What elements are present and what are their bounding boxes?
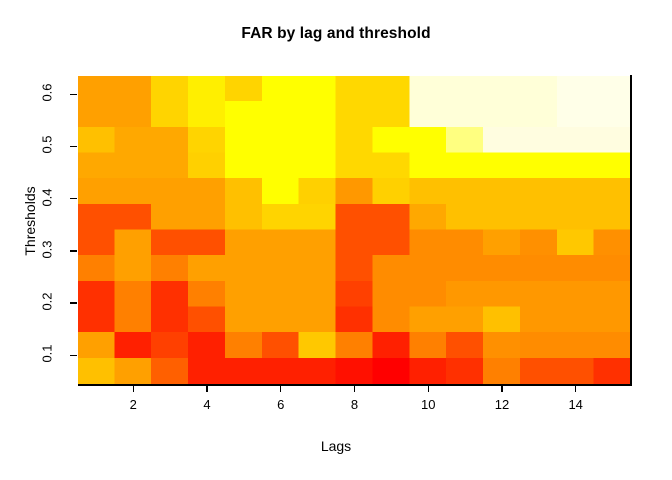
heatmap-cell [262,127,300,154]
y-axis-tick-label: 0.5 [40,126,55,164]
heatmap-cell [520,332,558,359]
x-axis-tick-label: 12 [482,397,522,412]
heatmap-cell [225,307,263,334]
heatmap-cell [336,358,374,384]
plot-right-border [630,75,632,385]
y-axis-tick [70,146,77,147]
heatmap-cell [520,76,558,102]
heatmap-cell [372,332,410,359]
heatmap-cell [557,255,595,282]
heatmap-cell [557,127,595,154]
heatmap-cell [594,178,631,205]
heatmap-cell [299,358,337,384]
heatmap-cell [151,153,189,180]
heatmap-cell [372,127,410,154]
heatmap-cell [262,255,300,282]
heatmap-cell [225,204,263,231]
heatmap-cell [483,204,521,231]
heatmap-cell [336,178,374,205]
heatmap-cell [557,332,595,359]
heatmap-cell [299,178,337,205]
heatmap-cell [225,153,263,180]
heatmap-cell [114,255,152,282]
heatmap-cell [262,101,300,128]
heatmap-cell [483,101,521,128]
heatmap-cell [188,255,226,282]
heatmap-cell [409,255,447,282]
heatmap-cell [299,127,337,154]
heatmap-cell [372,101,410,128]
heatmap-cell [336,332,374,359]
heatmap-cell [151,178,189,205]
y-axis-tick [70,355,77,356]
heatmap-cell [446,127,484,154]
heatmap-cell [225,76,263,102]
heatmap-cell [114,358,152,384]
heatmap-cell [78,307,115,334]
heatmap-cell [114,178,152,205]
heatmap-cell [483,153,521,180]
heatmap-cell [483,281,521,308]
x-axis-tick-label: 4 [187,397,227,412]
y-axis-tick-label: 0.6 [40,74,55,112]
heatmap-cell [225,358,263,384]
heatmap-cell [557,76,595,102]
heatmap-cell [262,358,300,384]
heatmap-cell [446,204,484,231]
x-axis-title: Lags [0,438,672,454]
heatmap-cell [594,281,631,308]
heatmap-cell [520,178,558,205]
heatmap-cell [409,153,447,180]
heatmap-cell [520,281,558,308]
heatmap-cell [151,101,189,128]
heatmap-cell [409,332,447,359]
heatmap-chart: FAR by lag and threshold 2468101214 0.10… [0,0,672,480]
heatmap-cell [78,127,115,154]
heatmap-cell [520,307,558,334]
heatmap-cell [336,204,374,231]
heatmap-cell [336,76,374,102]
heatmap-cell [336,127,374,154]
heatmap-cell [409,230,447,257]
y-axis-tick-label: 0.2 [40,283,55,321]
heatmap-cell [409,204,447,231]
heatmap-cell [483,307,521,334]
heatmap-cell [114,204,152,231]
y-axis-tick-label: 0.4 [40,178,55,216]
heatmap-cell [446,230,484,257]
x-axis-tick [133,385,134,392]
heatmap-cell [483,76,521,102]
x-axis-tick-label: 14 [556,397,596,412]
x-axis-tick-label: 8 [335,397,375,412]
x-axis-tick-label: 6 [261,397,301,412]
heatmap-cell [188,178,226,205]
heatmap-cell [188,358,226,384]
heatmap-cell [372,255,410,282]
heatmap-cell [594,358,631,384]
heatmap-cell [188,230,226,257]
heatmap-cell [262,281,300,308]
heatmap-cell [262,307,300,334]
heatmap-cell [78,358,115,384]
heatmap-cell [336,153,374,180]
heatmap-cell [188,281,226,308]
heatmap-cell [557,281,595,308]
heatmap-cell [151,332,189,359]
heatmap-cell [372,230,410,257]
x-axis-tick-label: 2 [113,397,153,412]
heatmap-cell [557,307,595,334]
heatmap-cell [446,178,484,205]
heatmap-cell [446,101,484,128]
heatmap-cell [446,332,484,359]
x-axis-tick [354,385,355,392]
heatmap-cell [114,307,152,334]
heatmap-cell [299,332,337,359]
heatmap-cell [78,204,115,231]
y-axis-tick-label: 0.3 [40,230,55,268]
heatmap-cell [151,358,189,384]
heatmap-cell [372,307,410,334]
heatmap-cell [262,204,300,231]
heatmap-cell [409,178,447,205]
heatmap-cell [594,204,631,231]
x-axis-tick [206,385,207,392]
heatmap-cell [262,178,300,205]
heatmap-cell [188,153,226,180]
heatmap-cell [446,76,484,102]
heatmap-cell [483,332,521,359]
heatmap-cell [446,255,484,282]
heatmap-cell [151,307,189,334]
heatmap-cell [594,332,631,359]
heatmap-cell [520,153,558,180]
heatmap-cell [409,307,447,334]
heatmap-cell [78,101,115,128]
heatmap-cell [446,358,484,384]
heatmap-cell [151,281,189,308]
heatmap-cell [225,127,263,154]
heatmap-cell [336,230,374,257]
heatmap-cell [483,358,521,384]
heatmap-cell [78,332,115,359]
heatmap-cell [188,307,226,334]
heatmap-cell [336,307,374,334]
heatmap-cell [151,204,189,231]
heatmap-cell [372,358,410,384]
heatmap-cell [188,76,226,102]
heatmap-cell [151,127,189,154]
heatmap-cell [114,101,152,128]
heatmap-cell [336,255,374,282]
heatmap-cell [594,76,631,102]
heatmap-cell [299,255,337,282]
heatmap-cell [299,76,337,102]
heatmap-cell [299,204,337,231]
heatmap-cell [520,255,558,282]
heatmap-cell [520,358,558,384]
heatmap-cell [78,153,115,180]
heatmap-cell [78,281,115,308]
heatmap-cell [520,127,558,154]
x-axis-tick-label: 10 [408,397,448,412]
y-axis-tick-label: 0.1 [40,335,55,373]
heatmap-cell [114,281,152,308]
heatmap-cell [520,230,558,257]
heatmap-cell [557,230,595,257]
heatmap-cell [225,101,263,128]
heatmap-cell [262,332,300,359]
heatmap-cell [594,255,631,282]
y-axis-tick [70,94,77,95]
heatmap-cell [114,153,152,180]
heatmap-cell [299,281,337,308]
heatmap-cell [557,358,595,384]
heatmap-cell [188,101,226,128]
heatmap-cell [446,281,484,308]
heatmap-cell [114,332,152,359]
heatmap-cell [594,153,631,180]
heatmap-cell [483,178,521,205]
heatmap-cell [372,281,410,308]
heatmap-cell [483,127,521,154]
y-axis-tick [70,250,77,251]
heatmap-cell [299,101,337,128]
chart-title: FAR by lag and threshold [0,25,672,43]
heatmap-cell [262,230,300,257]
heatmap-cell [225,281,263,308]
y-axis-tick [70,302,77,303]
heatmap-cell [299,230,337,257]
heatmap-cell [299,307,337,334]
heatmap-cell [151,230,189,257]
y-axis-title: Thresholds [22,151,38,291]
heatmap-cell [594,101,631,128]
heatmap-cell [225,178,263,205]
heatmap-cell [594,127,631,154]
heatmap-cell [483,230,521,257]
heatmap-cell [336,281,374,308]
heatmap-cell [114,76,152,102]
x-axis-tick [428,385,429,392]
heatmap-cell [409,101,447,128]
heatmap-grid [78,76,631,384]
heatmap-cell [225,332,263,359]
heatmap-cell [483,255,521,282]
heatmap-cell [151,255,189,282]
heatmap-cell [446,153,484,180]
heatmap-cell [557,101,595,128]
x-axis-tick [575,385,576,392]
heatmap-cell [557,153,595,180]
heatmap-cell [114,127,152,154]
heatmap-cell [594,230,631,257]
x-axis-tick [501,385,502,392]
heatmap-cell [78,178,115,205]
heatmap-cell [114,230,152,257]
heatmap-cell [188,204,226,231]
heatmap-cell [409,127,447,154]
heatmap-cell [188,127,226,154]
plot-area [78,76,631,384]
heatmap-cell [262,153,300,180]
heatmap-cell [409,358,447,384]
heatmap-cell [225,255,263,282]
heatmap-cell [188,332,226,359]
heatmap-cell [262,76,300,102]
heatmap-cell [446,307,484,334]
heatmap-cell [594,307,631,334]
heatmap-cell [557,204,595,231]
heatmap-cell [372,76,410,102]
y-axis-tick [70,198,77,199]
heatmap-cell [409,76,447,102]
x-axis-tick [280,385,281,392]
heatmap-cell [336,101,374,128]
heatmap-cell [78,255,115,282]
heatmap-cell [299,153,337,180]
heatmap-cell [520,101,558,128]
heatmap-cell [372,178,410,205]
heatmap-cell [557,178,595,205]
heatmap-cell [78,230,115,257]
heatmap-cell [151,76,189,102]
heatmap-cell [372,204,410,231]
heatmap-cell [225,230,263,257]
heatmap-cell [78,76,115,102]
heatmap-cell [409,281,447,308]
heatmap-cell [372,153,410,180]
heatmap-cell [520,204,558,231]
